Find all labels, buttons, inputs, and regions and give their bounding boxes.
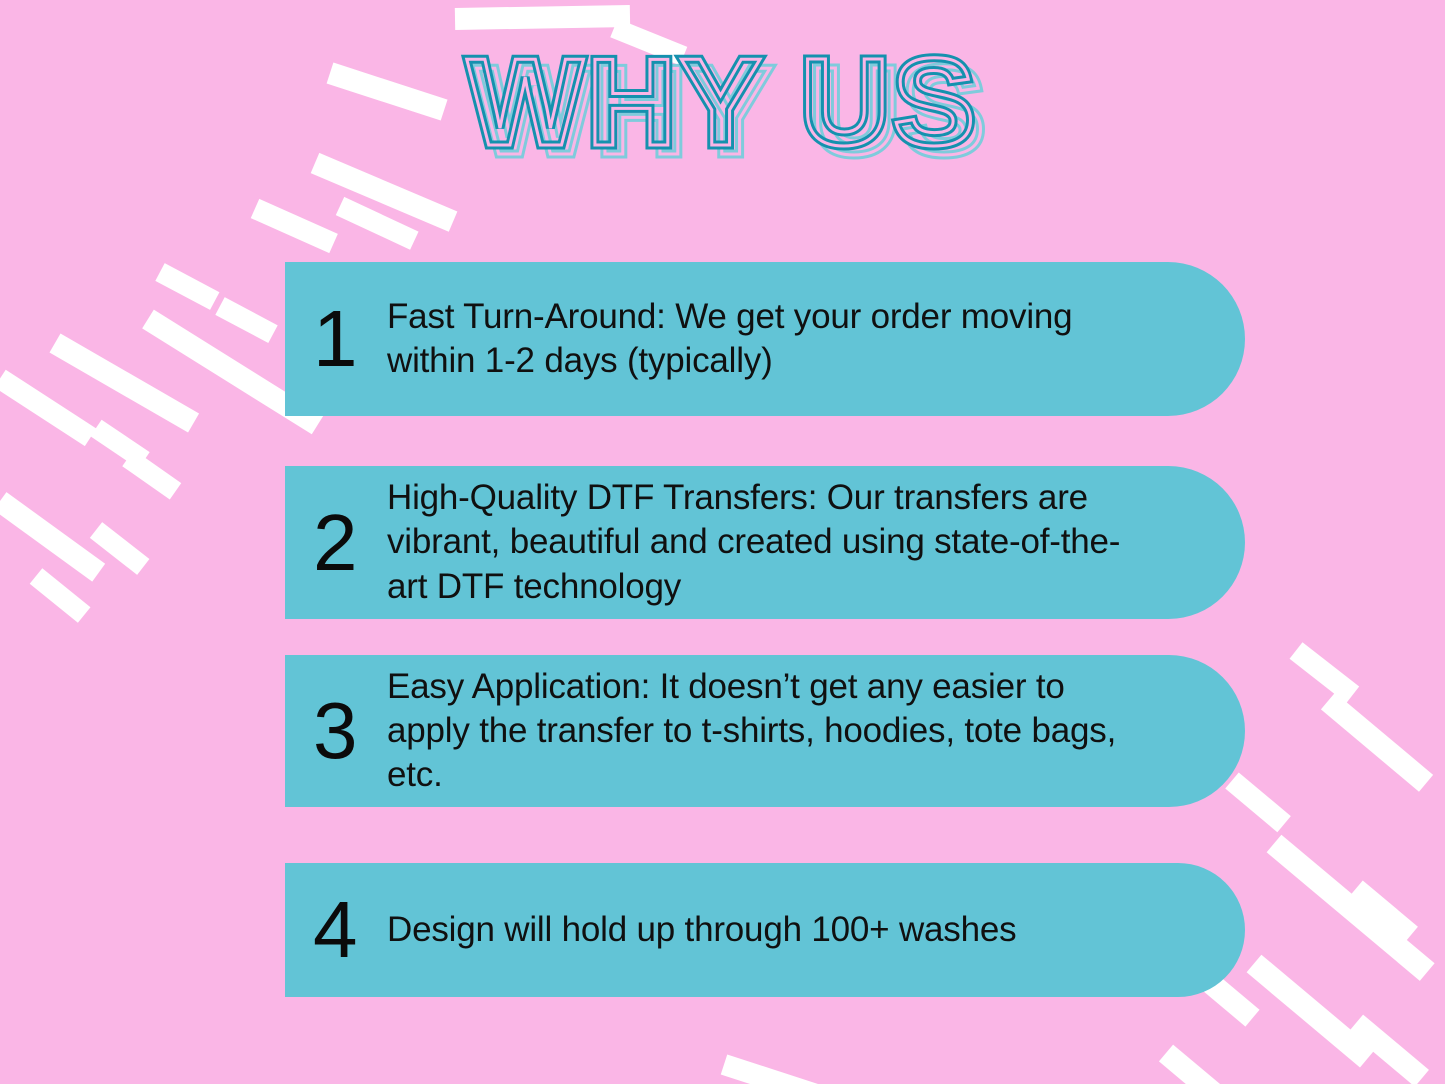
dash-stripe	[1247, 955, 1375, 1068]
dash-stripe	[1159, 1045, 1262, 1084]
dash-stripe	[122, 450, 181, 500]
list-item-number: 2	[313, 505, 387, 581]
dash-stripe	[1349, 880, 1418, 942]
dash-stripe	[1267, 835, 1435, 981]
page-title: WHY US WHY US WHY US WHY US	[0, 38, 1445, 168]
list-item-text: Design will hold up through 100+ washes	[387, 908, 1125, 952]
list-item-text: High-Quality DTF Transfers: Our transfer…	[387, 476, 1125, 608]
dash-stripe	[455, 5, 630, 30]
list-item-text: Easy Application: It doesn’t get any eas…	[387, 665, 1125, 797]
dash-stripe	[30, 568, 91, 623]
dash-stripe	[721, 1055, 819, 1084]
list-item: 1 Fast Turn-Around: We get your order mo…	[285, 262, 1245, 416]
dash-stripe	[1321, 693, 1433, 792]
why-us-poster: WHY US WHY US WHY US WHY US 1 Fast Turn-…	[0, 0, 1445, 1084]
title-main-inner: WHY US	[0, 38, 1445, 168]
dash-stripe	[1349, 1015, 1429, 1084]
dash-stripe	[90, 420, 149, 469]
dash-stripe	[155, 263, 219, 310]
list-item: 3 Easy Application: It doesn’t get any e…	[285, 655, 1245, 807]
dash-stripe	[1290, 642, 1360, 703]
list-item-number: 3	[313, 693, 387, 769]
benefits-list: 1 Fast Turn-Around: We get your order mo…	[285, 262, 1245, 997]
list-item: 4 Design will hold up through 100+ washe…	[285, 863, 1245, 997]
list-item-number: 1	[313, 301, 387, 377]
dash-stripe	[0, 492, 105, 582]
dash-stripe	[90, 522, 150, 575]
dash-stripe	[336, 197, 419, 250]
list-item-text: Fast Turn-Around: We get your order movi…	[387, 295, 1125, 383]
dash-stripe	[0, 370, 96, 446]
dash-stripe	[215, 297, 277, 343]
dash-stripe	[50, 333, 200, 432]
list-item: 2 High-Quality DTF Transfers: Our transf…	[285, 466, 1245, 619]
dash-stripe	[251, 199, 338, 253]
list-item-number: 4	[313, 892, 387, 968]
